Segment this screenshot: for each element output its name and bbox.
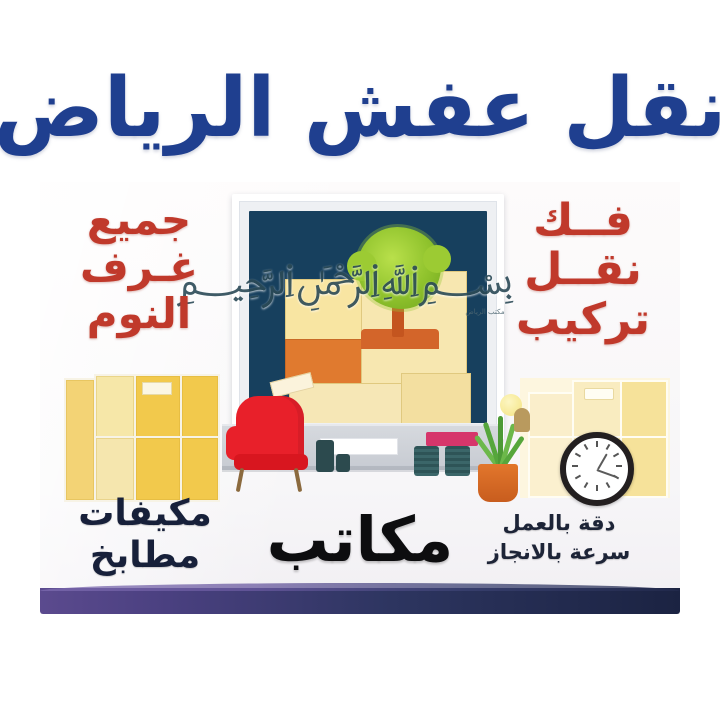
service-dismantle: فــك [498, 196, 668, 245]
storage-bin-icon [316, 440, 334, 472]
tagline-speed: سرعة بالانجاز [454, 538, 664, 566]
category-offices: مكاتب [267, 503, 454, 576]
armchair-icon [226, 396, 318, 482]
page-title: نقل عفش الرياض [0, 48, 720, 168]
basket-pair-icon [414, 446, 472, 476]
shelving-group [470, 378, 670, 504]
central-illustration [208, 188, 514, 498]
banner-bottom-strip [40, 588, 680, 614]
wall-clock-icon [560, 432, 634, 506]
services-right: فــك نقــل تركيب [498, 196, 668, 344]
figurine-icon [514, 408, 530, 432]
frame-panel [249, 211, 487, 423]
service-all: جميع [54, 196, 224, 243]
service-bedroom: النوم [54, 290, 224, 337]
category-air-conditioners: مكيفات [50, 493, 240, 534]
quality-tagline: دقة بالعمل سرعة بالانجاز [454, 509, 664, 566]
cardboard-box-stack-icon [64, 374, 216, 502]
storage-bin-small-icon [336, 454, 350, 472]
service-install: تركيب [498, 295, 668, 344]
poster-root: نقل عفش الرياض [0, 0, 720, 722]
category-bottom-left: مكيفات مطابخ [50, 493, 240, 576]
service-rooms: غـرف [54, 243, 224, 290]
tagline-precision: دقة بالعمل [454, 509, 664, 537]
service-transport: نقــل [498, 245, 668, 294]
box-label [142, 382, 172, 395]
category-kitchens: مطابخ [50, 535, 240, 576]
services-left: جميع غـرف النوم [54, 196, 224, 337]
advert-banner: ﷽ مكتب الرياض [40, 182, 680, 614]
